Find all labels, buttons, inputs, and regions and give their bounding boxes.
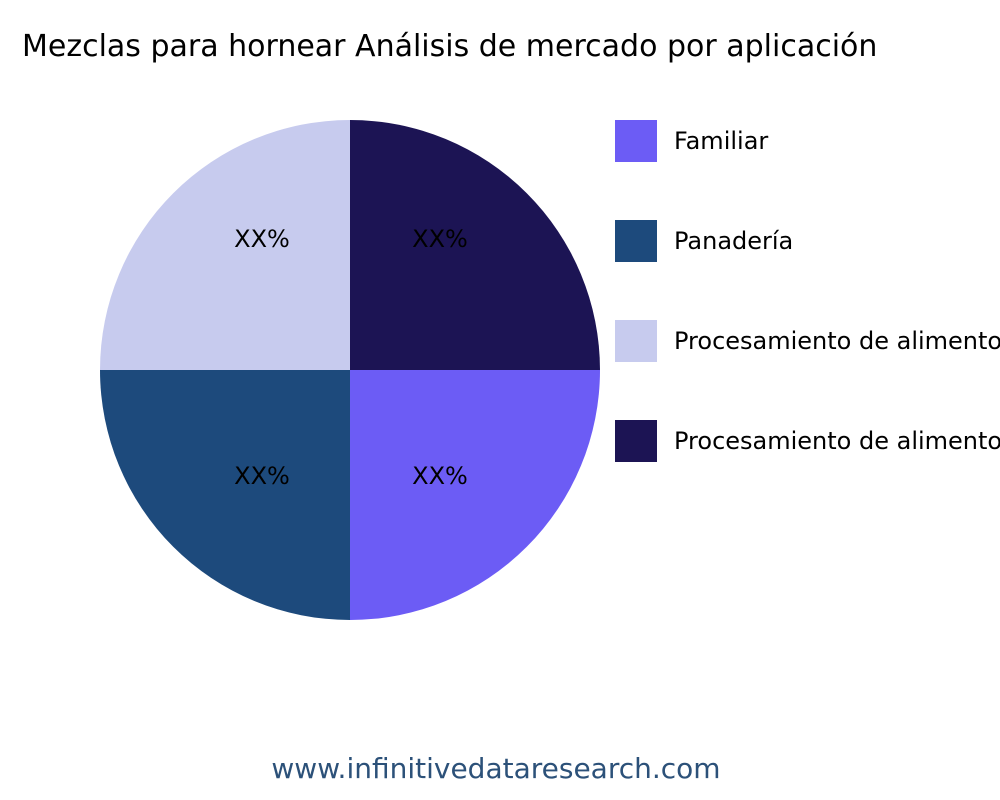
legend-swatch-icon [615,420,657,462]
pie-slice-label-top-right: XX% [412,225,468,253]
legend-item-label: Procesamiento de alimentos [674,420,1000,462]
legend-item-label: Panadería [674,220,793,262]
pie-slice-label-bottom-right: XX% [412,462,468,490]
pie-svg: XX% XX% XX% XX% [100,120,600,620]
legend-item-label: Familiar [674,120,768,162]
legend-item-panaderia[interactable]: Panadería [615,220,793,262]
page-title: Mezclas para hornear Análisis de mercado… [22,27,877,67]
legend: Familiar Panadería Procesamiento de alim… [615,120,1000,470]
legend-item-familiar[interactable]: Familiar [615,120,768,162]
pie-slice-top-right[interactable] [350,120,600,370]
footer-website-url[interactable]: www.infinitivedataresearch.com [0,752,1000,785]
pie-slice-bottom-right[interactable] [350,370,600,620]
legend-item-procesamiento-de-alimentos-2[interactable]: Procesamiento de alimentos [615,420,1000,462]
pie-slice-top-left[interactable] [100,120,350,370]
chart-canvas: Mezclas para hornear Análisis de mercado… [0,0,1000,800]
pie-slice-bottom-left[interactable] [100,370,350,620]
pie-chart: XX% XX% XX% XX% [100,120,600,620]
footer-url-text: www.infinitivedataresearch.com [271,752,728,785]
legend-swatch-icon [615,220,657,262]
legend-swatch-icon [615,320,657,362]
legend-swatch-icon [615,120,657,162]
legend-item-procesamiento-de-alimentos-1[interactable]: Procesamiento de alimentos [615,320,1000,362]
pie-slice-label-top-left: XX% [234,225,290,253]
legend-item-label: Procesamiento de alimentos [674,320,1000,362]
pie-slice-label-bottom-left: XX% [234,462,290,490]
